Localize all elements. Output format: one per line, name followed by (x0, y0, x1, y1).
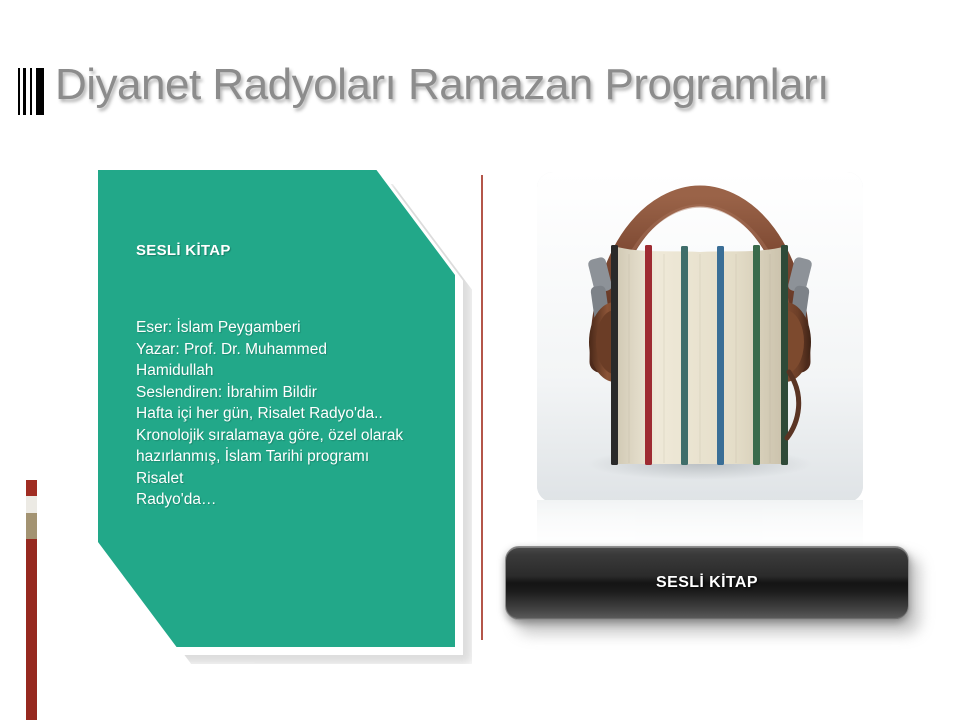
green-panel-line: Risalet (136, 468, 425, 490)
audiobook-headphones-on-books-icon (537, 172, 863, 502)
green-panel-body: SESLİ KİTAP Eser: İslam Peygamberi Yazar… (98, 170, 455, 647)
green-panel-line: Yazar: Prof. Dr. Muhammed (136, 339, 425, 361)
green-panel-line: Seslendiren: İbrahim Bildir (136, 382, 425, 404)
accent-segment-white (26, 496, 37, 513)
green-info-panel: SESLİ KİTAP Eser: İslam Peygamberi Yazar… (98, 170, 458, 650)
accent-segment-red-top (26, 480, 37, 496)
green-panel-line: Hafta içi her gün, Risalet Radyo'da.. (136, 403, 425, 425)
green-panel-line: hazırlanmış, İslam Tarihi programı (136, 446, 425, 468)
vertical-divider (481, 175, 483, 640)
sesli-kitap-button-label: SESLİ KİTAP (656, 574, 758, 592)
sesli-kitap-button[interactable]: SESLİ KİTAP (505, 546, 909, 620)
page-title: Diyanet Radyoları Ramazan Programları (55, 60, 829, 110)
audiobook-photo (537, 172, 863, 502)
green-panel-line: Hamidullah (136, 360, 425, 382)
accent-segment-red-long (26, 539, 37, 720)
green-panel-line: Eser: İslam Peygamberi (136, 317, 425, 339)
left-accent-strip (26, 480, 37, 720)
accent-segment-tan (26, 513, 37, 539)
slide-canvas: Diyanet Radyoları Ramazan Programları SE… (0, 0, 960, 720)
green-panel-heading: SESLİ KİTAP (136, 242, 425, 259)
green-panel-text: Eser: İslam Peygamberi Yazar: Prof. Dr. … (136, 317, 425, 511)
green-panel-line: Radyo'da… (136, 489, 425, 511)
vertical-bars-icon (18, 68, 44, 115)
green-panel-line: Kronolojik sıralamaya göre, özel olarak (136, 425, 425, 447)
